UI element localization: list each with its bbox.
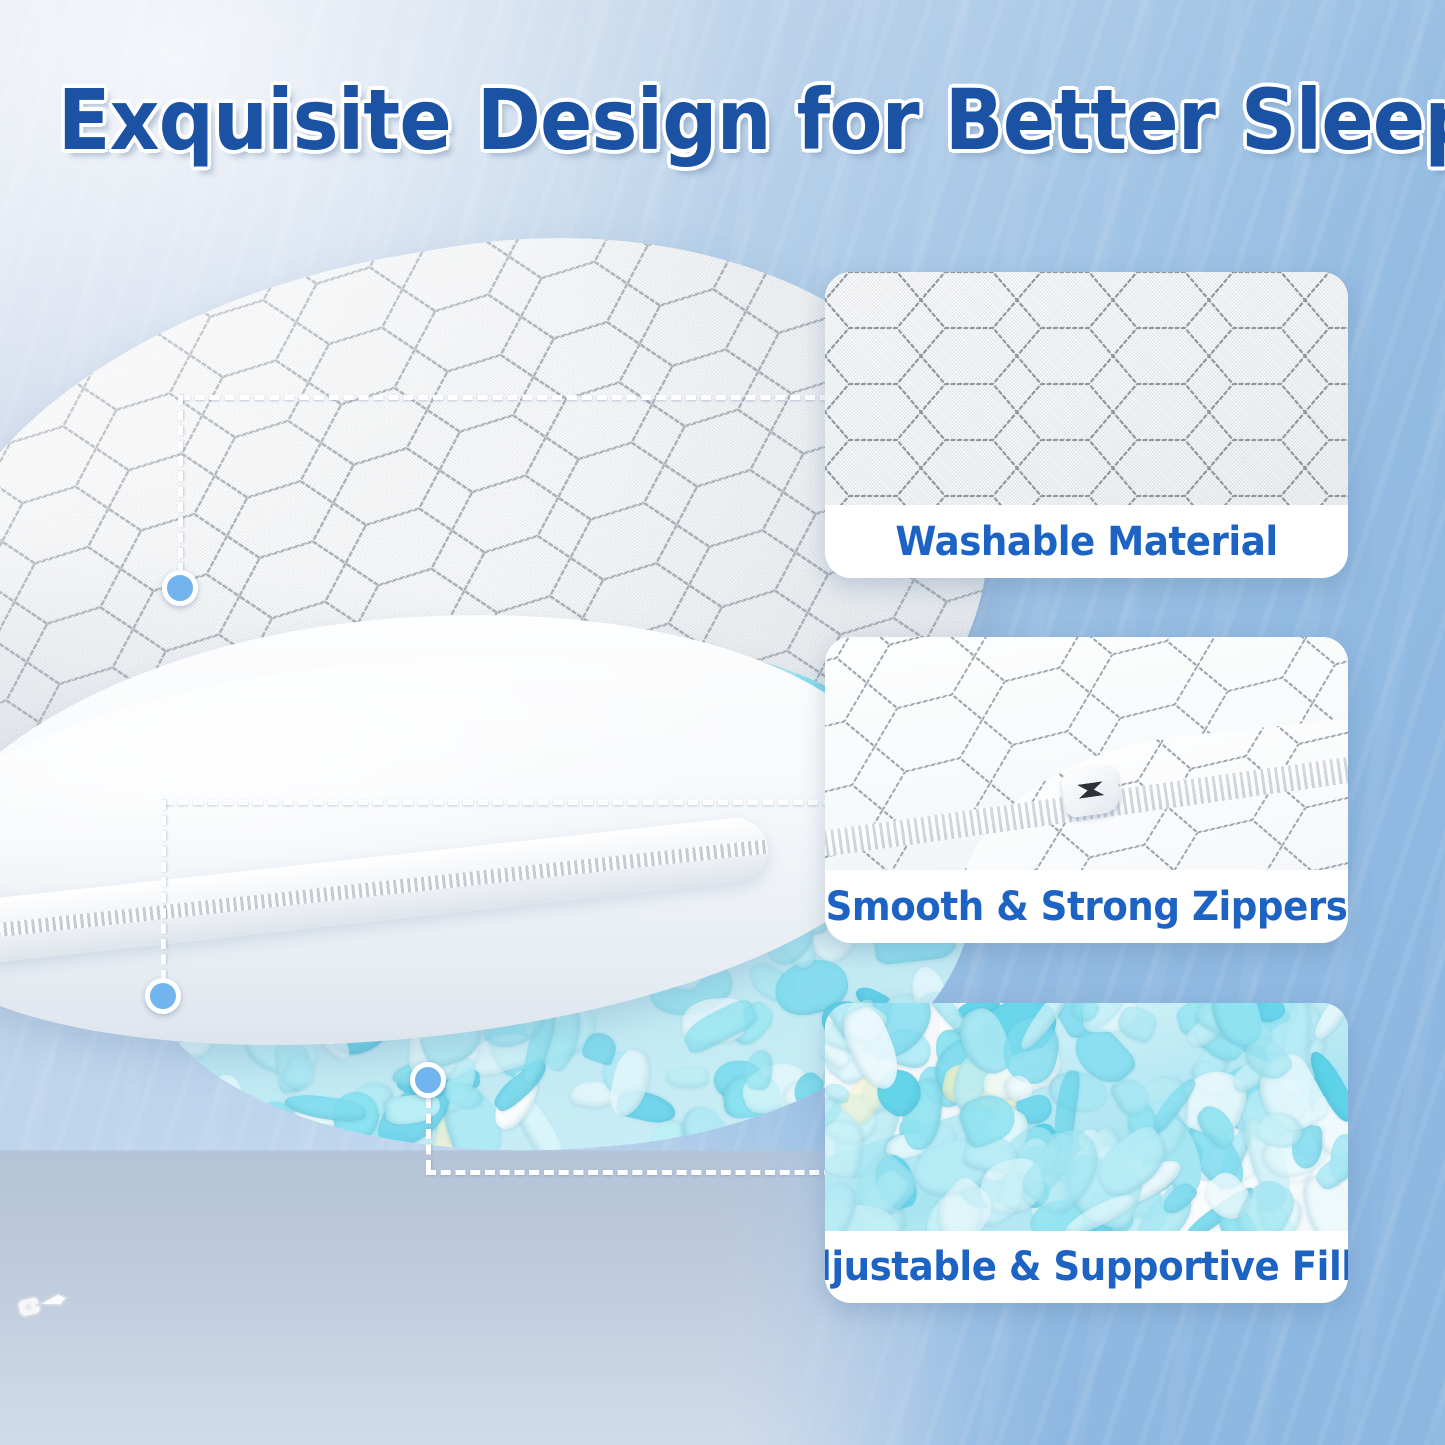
feature-card-washable[interactable]: Washable Material	[825, 272, 1348, 578]
callout-dot-washable[interactable]	[162, 570, 198, 606]
callout-dot-filler[interactable]	[410, 1062, 446, 1098]
feature-photo-washable-material	[825, 272, 1348, 505]
feature-card-filler[interactable]: Adjustable & Supportive Filler	[825, 1003, 1348, 1303]
feature-card-zippers[interactable]: Smooth & Strong Zippers	[825, 637, 1348, 943]
feature-label-filler: Adjustable & Supportive Filler	[843, 1231, 1329, 1303]
feature-photo-shredded-foam	[825, 1003, 1348, 1231]
product-feature-banner: Exquisite Design for Better Sleep	[0, 0, 1445, 1445]
feature-label-zippers: Smooth & Strong Zippers	[843, 870, 1329, 943]
page-title: Exquisite Design for Better Sleep	[58, 78, 1387, 162]
feature-label-washable: Washable Material	[843, 505, 1329, 578]
feature-photo-zipper-closeup	[825, 637, 1348, 870]
callout-dot-zippers[interactable]	[145, 978, 181, 1014]
